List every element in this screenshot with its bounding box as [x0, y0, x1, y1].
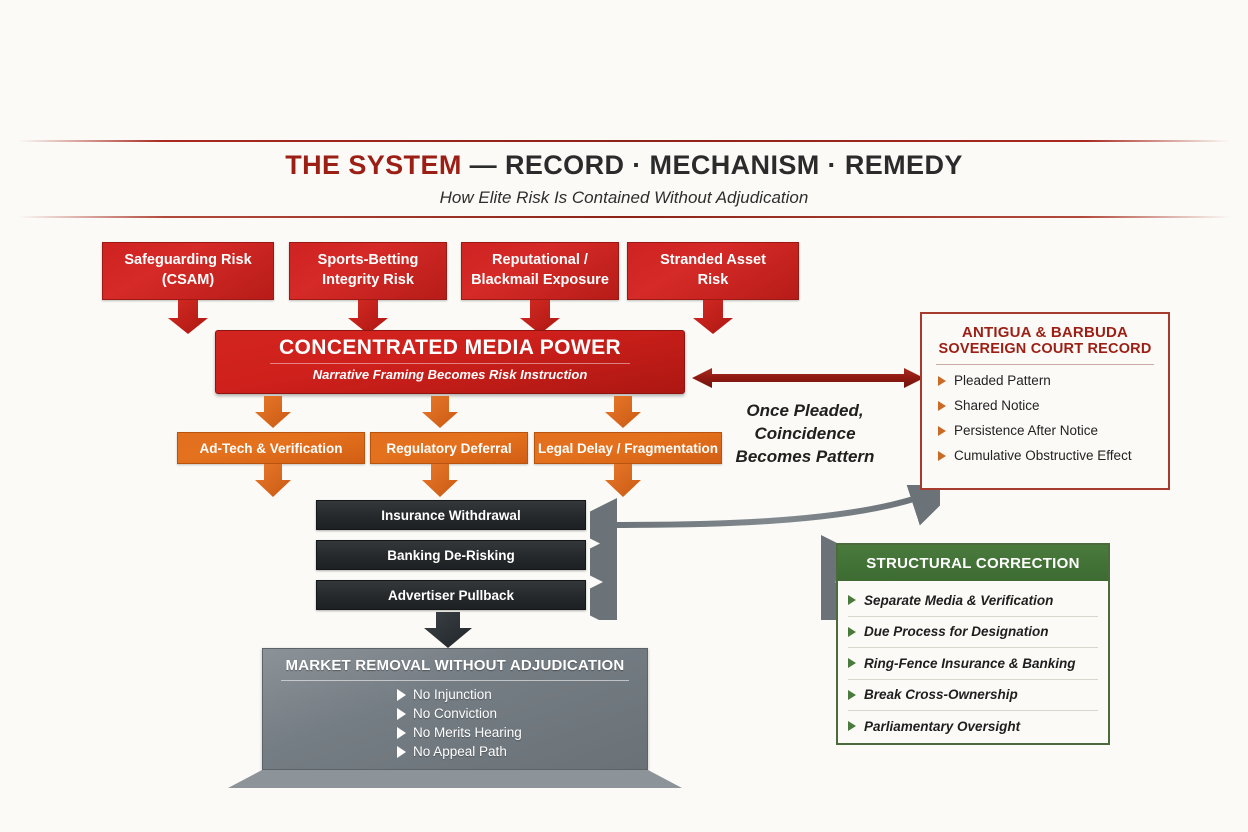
mechanism-box-legal-delay[interactable]: Legal Delay / Fragmentation — [534, 432, 722, 464]
triangle-bullet-icon — [397, 689, 406, 701]
outcome-down-arrow — [424, 612, 472, 648]
structural-correction-item-label: Separate Media & Verification — [864, 593, 1053, 608]
effect-label: Insurance Withdrawal — [381, 508, 520, 523]
media-power-subtitle: Narrative Framing Becomes Risk Instructi… — [216, 367, 684, 382]
triangle-bullet-icon — [397, 708, 406, 720]
triangle-bullet-icon — [848, 595, 856, 605]
court-record-item[interactable]: Cumulative Obstructive Effect — [938, 448, 1156, 463]
page-subtitle: How Elite Risk Is Contained Without Adju… — [0, 188, 1248, 208]
effect-box-banking-de-risking[interactable]: Banking De-Risking — [316, 540, 586, 570]
market-removal-item-label: No Conviction — [413, 706, 497, 721]
media-to-record-double-arrow — [690, 365, 926, 391]
structural-correction-item-label: Ring-Fence Insurance & Banking — [864, 656, 1076, 671]
court-record-item[interactable]: Persistence After Notice — [938, 423, 1156, 438]
structural-correction-item[interactable]: Due Process for Designation — [848, 617, 1098, 649]
risk-label-line1: Safeguarding Risk — [124, 251, 251, 271]
effect-label: Advertiser Pullback — [388, 588, 514, 603]
market-removal-item: No Merits Hearing — [397, 725, 633, 740]
market-removal-pedestal — [228, 770, 682, 788]
triangle-bullet-icon — [938, 401, 946, 411]
effect-box-insurance-withdrawal[interactable]: Insurance Withdrawal — [316, 500, 586, 530]
risk-label-line2: (CSAM) — [124, 271, 251, 291]
structural-correction-item[interactable]: Separate Media & Verification — [848, 585, 1098, 617]
risk-box-sports-betting[interactable]: Sports-Betting Integrity Risk — [289, 242, 447, 300]
header-rule-bottom — [18, 216, 1230, 218]
risk-down-arrow — [168, 300, 208, 334]
mechanism-box-ad-tech[interactable]: Ad-Tech & Verification — [177, 432, 365, 464]
risk-label-line2: Blackmail Exposure — [471, 271, 609, 291]
risk-label-line2: Risk — [660, 271, 766, 291]
triangle-bullet-icon — [848, 721, 856, 731]
market-removal-divider — [281, 680, 629, 681]
effect-down-arrow — [255, 464, 291, 497]
market-removal-item-label: No Injunction — [413, 687, 492, 702]
effect-label: Banking De-Risking — [387, 548, 515, 563]
mechanism-down-arrow — [422, 396, 458, 428]
court-record-item[interactable]: Shared Notice — [938, 398, 1156, 413]
market-removal-item: No Injunction — [397, 687, 633, 702]
court-record-title-line2: SOVEREIGN COURT RECORD — [934, 341, 1156, 357]
market-removal-item-label: No Merits Hearing — [413, 725, 522, 740]
court-record-item-label: Shared Notice — [954, 398, 1040, 413]
mechanism-label: Legal Delay / Fragmentation — [538, 441, 718, 456]
header-rule-top — [18, 140, 1230, 142]
triangle-bullet-icon — [938, 426, 946, 436]
market-removal-item-label: No Appeal Path — [413, 744, 507, 759]
risk-label-line1: Sports-Betting — [318, 251, 419, 271]
court-record-panel[interactable]: ANTIGUA & BARBUDA SOVEREIGN COURT RECORD… — [920, 312, 1170, 490]
effect-box-advertiser-pullback[interactable]: Advertiser Pullback — [316, 580, 586, 610]
risk-label-line1: Reputational / — [471, 251, 609, 271]
risk-box-stranded-asset[interactable]: Stranded Asset Risk — [627, 242, 799, 300]
market-removal-title: MARKET REMOVAL WITHOUT ADJUDICATION — [277, 657, 633, 674]
market-removal-item: No Conviction — [397, 706, 633, 721]
media-to-mechanism-connectors — [160, 394, 740, 432]
market-removal-panel[interactable]: MARKET REMOVAL WITHOUT ADJUDICATION No I… — [262, 648, 648, 770]
risk-down-arrow — [348, 300, 388, 334]
structural-correction-item-label: Break Cross-Ownership — [864, 687, 1018, 702]
risk-label-line1: Stranded Asset — [660, 251, 766, 271]
triangle-bullet-icon — [397, 727, 406, 739]
court-record-item[interactable]: Pleaded Pattern — [938, 373, 1156, 388]
risk-down-arrow — [520, 300, 560, 334]
triangle-bullet-icon — [938, 451, 946, 461]
mechanism-down-arrow — [605, 396, 641, 428]
triangle-bullet-icon — [848, 627, 856, 637]
effect-down-arrow — [422, 464, 458, 497]
triangle-bullet-icon — [848, 658, 856, 668]
risk-down-arrow — [693, 300, 733, 334]
mechanism-label: Regulatory Deferral — [386, 441, 511, 456]
page-title: THE SYSTEM — RECORD · MECHANISM · REMEDY — [0, 150, 1248, 181]
structural-correction-item[interactable]: Ring-Fence Insurance & Banking — [848, 648, 1098, 680]
market-removal-item: No Appeal Path — [397, 744, 633, 759]
structural-correction-list: Separate Media & Verification Due Proces… — [838, 581, 1108, 742]
structural-correction-item-label: Parliamentary Oversight — [864, 719, 1020, 734]
structural-correction-item[interactable]: Break Cross-Ownership — [848, 680, 1098, 712]
risk-box-safeguarding[interactable]: Safeguarding Risk (CSAM) — [102, 242, 274, 300]
mechanism-label: Ad-Tech & Verification — [199, 441, 342, 456]
triangle-bullet-icon — [848, 690, 856, 700]
court-record-title-line1: ANTIGUA & BARBUDA — [934, 324, 1156, 341]
concentrated-media-power-box[interactable]: CONCENTRATED MEDIA POWER Narrative Frami… — [215, 330, 685, 394]
structural-correction-item-label: Due Process for Designation — [864, 624, 1049, 639]
page-title-rest: — RECORD · MECHANISM · REMEDY — [470, 150, 963, 180]
diagram-canvas: THE SYSTEM — RECORD · MECHANISM · REMEDY… — [0, 0, 1248, 832]
triangle-bullet-icon — [397, 746, 406, 758]
court-record-item-label: Cumulative Obstructive Effect — [954, 448, 1132, 463]
court-record-divider — [936, 364, 1154, 365]
triangle-bullet-icon — [938, 376, 946, 386]
structural-correction-panel[interactable]: STRUCTURAL CORRECTION Separate Media & V… — [836, 543, 1110, 745]
risk-label-line2: Integrity Risk — [318, 271, 419, 291]
mechanism-box-regulatory-deferral[interactable]: Regulatory Deferral — [370, 432, 528, 464]
mechanism-down-arrow — [255, 396, 291, 428]
page-title-accent: THE SYSTEM — [285, 150, 462, 180]
effect-to-outcome-connector — [380, 610, 530, 650]
risk-box-reputational[interactable]: Reputational / Blackmail Exposure — [461, 242, 619, 300]
curved-arrow-to-record — [608, 497, 920, 525]
media-power-title: CONCENTRATED MEDIA POWER — [216, 336, 684, 360]
media-power-divider — [270, 363, 630, 364]
structural-correction-item[interactable]: Parliamentary Oversight — [848, 711, 1098, 742]
court-record-item-label: Pleaded Pattern — [954, 373, 1051, 388]
structural-correction-title: STRUCTURAL CORRECTION — [838, 545, 1108, 581]
court-record-item-label: Persistence After Notice — [954, 423, 1098, 438]
